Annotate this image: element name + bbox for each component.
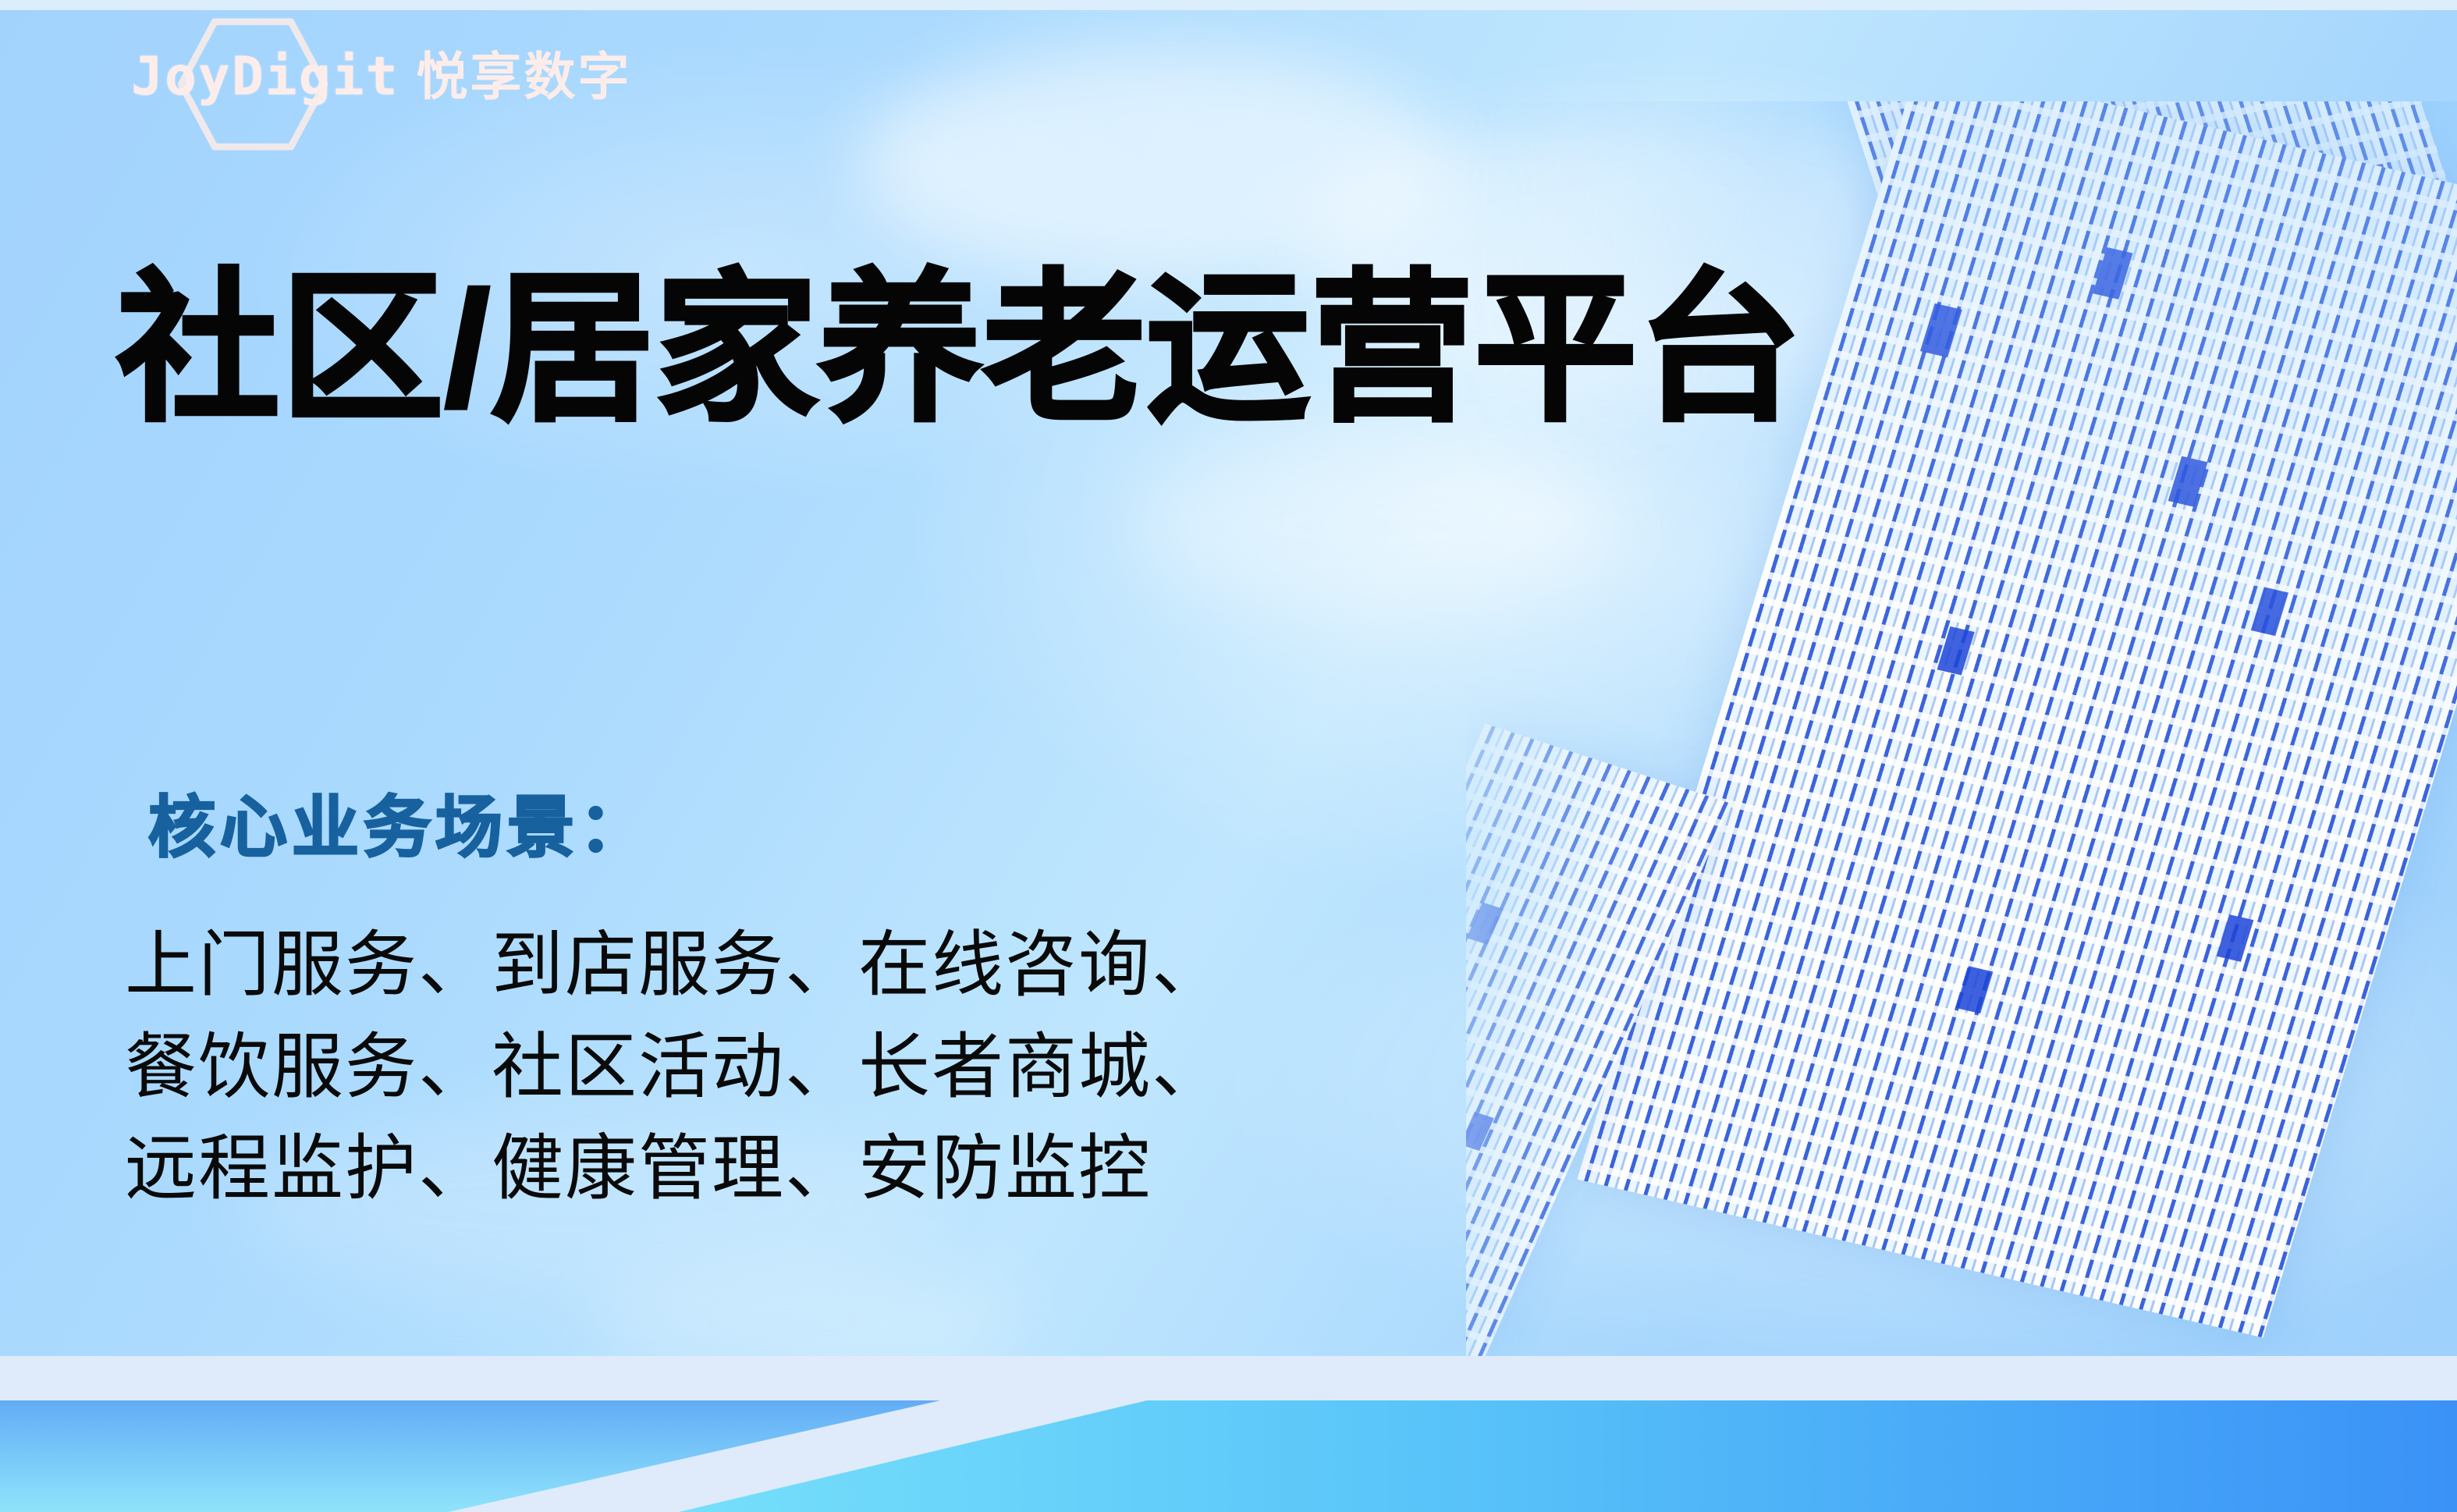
bottom-band-shapes — [0, 1356, 2457, 1512]
section-heading: 核心业务场景： — [148, 772, 651, 870]
page-title: 社区/居家养老运营平台 — [117, 262, 1802, 438]
scenario-line: 远程监护、健康管理、安防监控 — [125, 1118, 1225, 1220]
scenario-line: 餐饮服务、社区活动、长者商城、 — [125, 1017, 1225, 1119]
brand-name-en: JoyDigit — [131, 46, 399, 108]
scenario-list: 上门服务、到店服务、在线咨询、 餐饮服务、社区活动、长者商城、 远程监护、健康管… — [125, 914, 1225, 1220]
brand-logo-text: JoyDigit 悦享数字 — [131, 35, 632, 110]
brand-name-cn: 悦享数字 — [417, 35, 632, 110]
brand-logo: JoyDigit 悦享数字 — [131, 30, 632, 115]
bottom-decoration-band — [0, 1356, 2457, 1512]
top-edge-strip — [0, 0, 2457, 10]
scenario-line: 上门服务、到店服务、在线咨询、 — [125, 914, 1225, 1017]
slide-root: JoyDigit 悦享数字 社区/居家养老运营平台 核心业务场景： 上门服务、到… — [0, 0, 2457, 1512]
